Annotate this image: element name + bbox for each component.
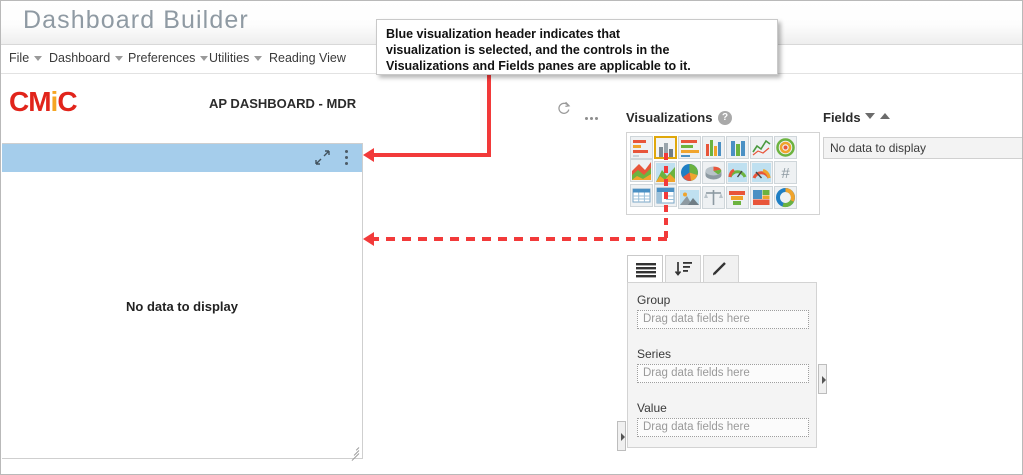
menu-item-utilities-label: Utilities bbox=[209, 51, 249, 65]
dashboard-builder-window: Dashboard Builder File Dashboard Prefere… bbox=[0, 0, 1023, 475]
series-dropzone[interactable]: Drag data fields here bbox=[637, 364, 809, 383]
data-tab[interactable] bbox=[627, 255, 663, 283]
annotation-line-vertical bbox=[487, 75, 491, 153]
donut-target-chart-icon[interactable] bbox=[774, 136, 797, 159]
bar-list-chart-icon[interactable] bbox=[630, 136, 653, 159]
pie-chart-icon[interactable] bbox=[678, 161, 701, 184]
annotation-dashed-arrowhead bbox=[363, 232, 374, 246]
menu-item-dashboard[interactable]: Dashboard bbox=[49, 51, 123, 65]
annotation-dashed-vertical bbox=[664, 153, 668, 239]
value-dropzone[interactable]: Drag data fields here bbox=[637, 418, 809, 437]
callout-line-3: Visualizations and Fields panes are appl… bbox=[386, 58, 769, 74]
menu-item-file[interactable]: File bbox=[9, 51, 42, 65]
chevron-down-icon bbox=[34, 56, 42, 61]
help-icon[interactable]: ? bbox=[718, 111, 732, 125]
visualization-toolbar bbox=[557, 101, 615, 115]
svg-text:#: # bbox=[781, 165, 790, 182]
visualization-row bbox=[630, 136, 816, 161]
callout-line-2: visualization is selected, and the contr… bbox=[386, 42, 769, 58]
fields-empty-message: No data to display bbox=[823, 137, 1023, 159]
annotation-line-horizontal bbox=[373, 153, 491, 157]
grouped-column-chart-icon[interactable] bbox=[702, 136, 725, 159]
group-label: Group bbox=[637, 293, 670, 307]
menu-item-dashboard-label: Dashboard bbox=[49, 51, 110, 65]
menu-item-preferences-label: Preferences bbox=[128, 51, 195, 65]
menu-item-preferences[interactable]: Preferences bbox=[128, 51, 208, 65]
ellipsis-icon[interactable] bbox=[585, 101, 601, 115]
fields-pane-title: Fields bbox=[823, 110, 861, 125]
visualizations-icon-grid[interactable]: # bbox=[626, 132, 820, 215]
menu-item-file-label: File bbox=[9, 51, 29, 65]
clustered-column-chart-icon[interactable] bbox=[726, 136, 749, 159]
line-chart-icon[interactable] bbox=[750, 136, 773, 159]
annotation-dashed-horizontal bbox=[373, 237, 667, 241]
logo-text-c: C bbox=[57, 86, 76, 117]
sort-descending-icon[interactable] bbox=[865, 113, 875, 119]
speedometer-chart-icon[interactable] bbox=[750, 161, 773, 184]
menu-item-reading-view[interactable]: Reading View bbox=[269, 51, 346, 65]
expand-arrows-icon[interactable] bbox=[315, 150, 330, 165]
visualization-card[interactable]: No data to display bbox=[2, 143, 363, 459]
series-label: Series bbox=[637, 347, 671, 361]
number-card-icon[interactable]: # bbox=[774, 161, 797, 184]
funnel-chart-icon[interactable] bbox=[726, 186, 749, 209]
logo-text-cm: CM bbox=[9, 86, 51, 117]
dashboard-name: AP DASHBOARD - MDR bbox=[209, 96, 356, 111]
scale-chart-icon[interactable] bbox=[702, 186, 725, 209]
table-grid-icon[interactable] bbox=[630, 184, 653, 207]
area-chart-icon[interactable] bbox=[630, 159, 653, 182]
annotation-callout: Blue visualization header indicates that… bbox=[376, 19, 778, 75]
collapse-panel-arrow-icon-left[interactable] bbox=[617, 421, 626, 451]
group-dropzone[interactable]: Drag data fields here bbox=[637, 310, 809, 329]
menu-item-utilities[interactable]: Utilities bbox=[209, 51, 262, 65]
radial-donut-chart-icon[interactable] bbox=[774, 186, 797, 209]
visualization-row: # bbox=[630, 161, 816, 186]
stacked-bar-chart-icon[interactable] bbox=[678, 136, 701, 159]
image-card-icon[interactable] bbox=[678, 186, 701, 209]
refresh-icon[interactable] bbox=[557, 101, 571, 115]
resize-grip-icon[interactable] bbox=[348, 444, 359, 455]
chevron-down-icon bbox=[115, 56, 123, 61]
gauge-chart-icon[interactable] bbox=[726, 161, 749, 184]
sort-tab[interactable] bbox=[665, 255, 701, 283]
config-panel: Group Drag data fields here Series Drag … bbox=[627, 282, 817, 448]
collapse-panel-arrow-icon[interactable] bbox=[818, 364, 827, 394]
annotation-arrowhead bbox=[363, 148, 374, 162]
cmic-logo: CMiC bbox=[9, 86, 77, 118]
menu-item-reading-view-label: Reading View bbox=[269, 51, 346, 65]
chevron-down-icon bbox=[200, 56, 208, 61]
callout-line-1: Blue visualization header indicates that bbox=[386, 26, 769, 42]
visualizations-pane-title: Visualizations bbox=[626, 110, 712, 125]
page-title: Dashboard Builder bbox=[23, 6, 249, 35]
format-tab[interactable] bbox=[703, 255, 739, 283]
treemap-chart-icon[interactable] bbox=[750, 186, 773, 209]
chevron-down-icon bbox=[254, 56, 262, 61]
3d-pie-chart-icon[interactable] bbox=[702, 161, 725, 184]
kebab-menu-icon[interactable] bbox=[345, 150, 349, 166]
sort-ascending-icon[interactable] bbox=[880, 113, 890, 119]
config-tab-bar bbox=[627, 255, 817, 283]
visualization-card-header[interactable] bbox=[2, 144, 362, 172]
value-label: Value bbox=[637, 401, 667, 415]
visualization-empty-message: No data to display bbox=[2, 299, 362, 314]
